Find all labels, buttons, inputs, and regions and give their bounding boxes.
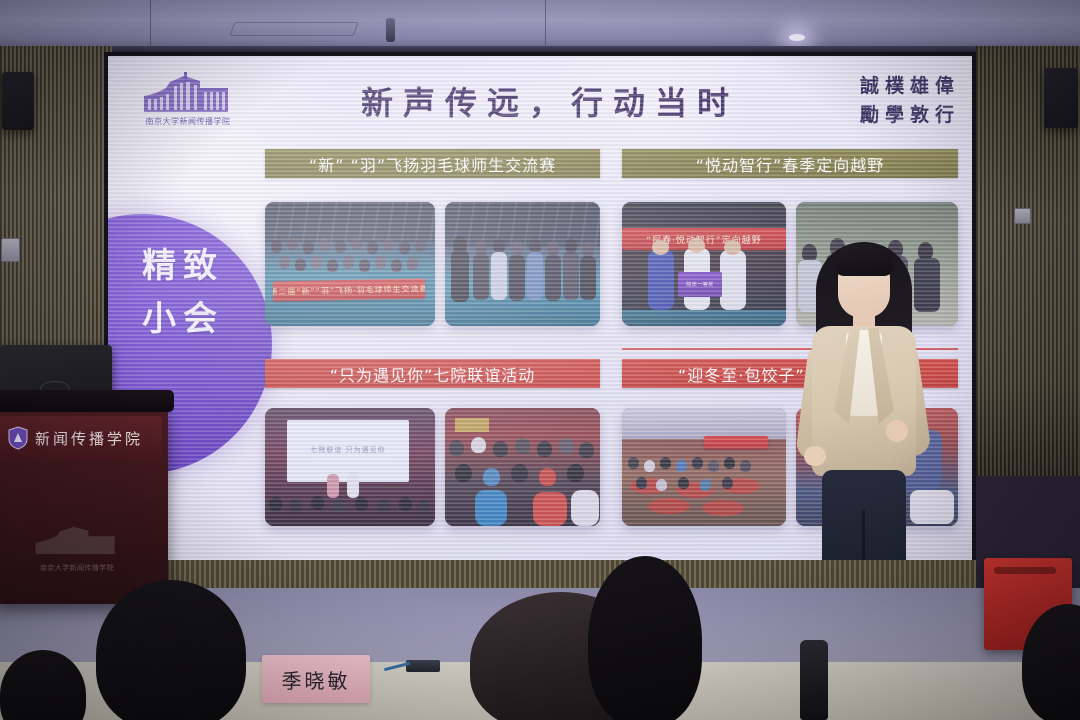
section-header-badminton: “新” “羽”飞扬羽毛球师生交流赛 (265, 149, 600, 178)
wall-socket-plate-left (1, 238, 20, 262)
lectern-podium: 新闻传播学院 南京大学新闻传播学院 (0, 404, 168, 604)
school-building-icon (140, 72, 236, 114)
section-header-social: “只为遇见你”七院联谊活动 (265, 359, 600, 388)
podium-top-surface (0, 390, 174, 412)
ceiling-panel (229, 22, 358, 36)
motto-line-1: 誠樸雄偉 (860, 72, 960, 101)
presenter-right-hand (886, 420, 908, 442)
photo-social-stage: 七院联谊 只为遇见你 (265, 408, 435, 526)
podium-building-icon (31, 524, 123, 556)
photo-orienteering-award: “探春·悦动智行”定向越野 院庆一等奖 (622, 202, 786, 326)
section-header-orienteering: “悦动智行”春季定向越野 (622, 149, 958, 178)
right-wall-wood-panel (976, 46, 1080, 476)
ceiling (0, 0, 1080, 52)
wall-speaker-left (2, 72, 34, 130)
podium-nameplate: 新闻传播学院 (0, 416, 162, 460)
audience-head (588, 556, 702, 720)
presenter-hair-front (834, 244, 894, 276)
ceiling-projector (386, 18, 395, 42)
lecture-hall-scene: 精致 小会 南京大学新闻传播学院 新声传远，行动当时 (0, 0, 1080, 720)
wall-speaker-right (1044, 68, 1078, 128)
university-shield-icon (8, 426, 28, 450)
motto-line-2: 勵學敦行 (860, 101, 960, 130)
circle-text-line1: 精致 (142, 240, 252, 293)
presenter-left-hand (804, 446, 826, 466)
desk-microphone (406, 660, 440, 672)
slide-logo-caption: 南京大学新闻传播学院 (136, 116, 240, 127)
podium-nameplate-text: 新闻传播学院 (35, 428, 143, 449)
circle-text-line2: 小会 (142, 293, 252, 346)
desk-name-card-text: 季晓敏 (282, 665, 351, 694)
podium-institution-text: 南京大学新闻传播学院 (12, 563, 142, 573)
photo-social-audience (445, 408, 600, 526)
photo-badminton-lineup (445, 202, 600, 326)
slide-motto: 誠樸雄偉 勵學敦行 (860, 72, 960, 129)
ceiling-light (789, 34, 805, 41)
audience-head (96, 580, 246, 720)
slide-school-logo: 南京大学新闻传播学院 (136, 72, 240, 127)
photo-dumplings-hall (622, 408, 786, 526)
desk-name-card: 季晓敏 (262, 655, 370, 703)
wall-socket-plate-right (1014, 208, 1031, 224)
podium-institution-logo: 南京大学新闻传播学院 (12, 524, 142, 573)
photo-badminton-group: 第二届“新”“羽”飞扬·羽毛球师生交流赛 (265, 202, 435, 326)
water-bottle (800, 640, 828, 720)
slide-title: 新声传远，行动当时 (340, 78, 760, 124)
